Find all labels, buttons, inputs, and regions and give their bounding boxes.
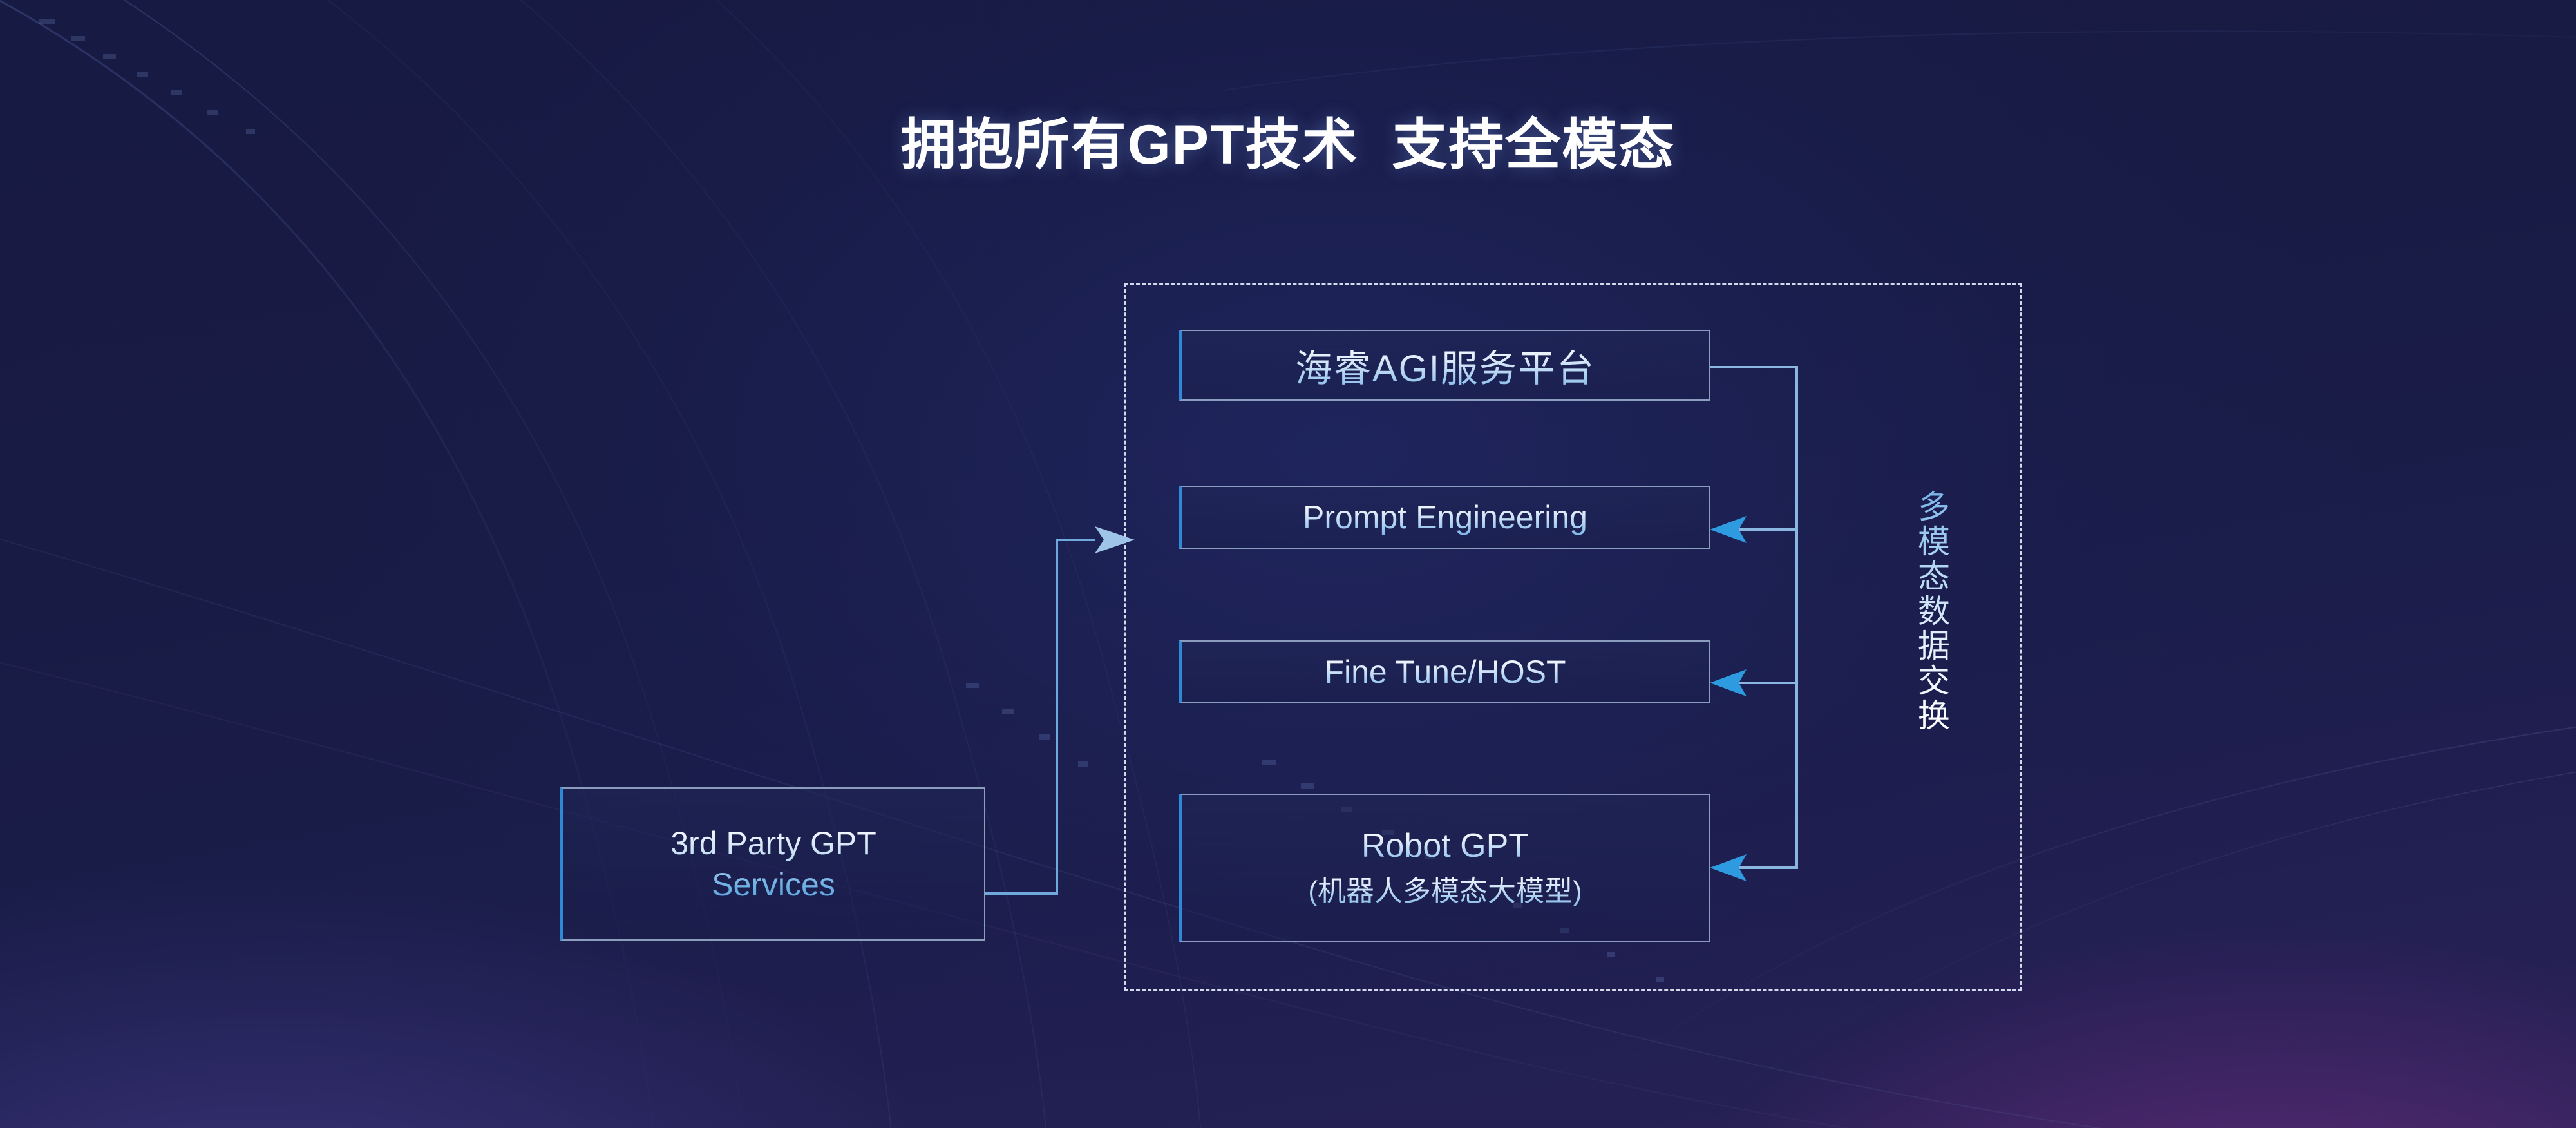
node-fine-tune-host[interactable]: Fine Tune/HOST — [1179, 640, 1710, 703]
connector-thirdparty-to-group — [985, 540, 1095, 894]
node-agi-platform[interactable]: 海睿AGI服务平台 — [1179, 330, 1710, 401]
node-robot-gpt-sublabel: (机器人多模态大模型) — [1308, 868, 1582, 909]
node-fine-tune-host-label: Fine Tune/HOST — [1324, 653, 1566, 691]
node-third-party-gpt-label: 3rd Party GPT — [670, 825, 876, 862]
node-third-party-gpt-services[interactable]: 3rd Party GPT Services — [560, 787, 985, 941]
node-robot-gpt-label: Robot GPT — [1361, 827, 1529, 865]
node-prompt-engineering[interactable]: Prompt Engineering — [1179, 486, 1710, 549]
node-third-party-services-label: Services — [712, 866, 835, 903]
node-prompt-engineering-label: Prompt Engineering — [1303, 499, 1587, 536]
slide-canvas: 拥抱所有GPT技术 支持全模态 海睿AGI服务平台 Prompt Enginee… — [0, 0, 2576, 1128]
node-agi-platform-label: 海睿AGI服务平台 — [1295, 338, 1595, 392]
page-title: 拥抱所有GPT技术 支持全模态 — [0, 115, 2576, 176]
node-robot-gpt[interactable]: Robot GPT (机器人多模态大模型) — [1179, 794, 1710, 942]
annotation-multimodal-data-exchange: 多模态数据交换 — [1906, 490, 1951, 733]
